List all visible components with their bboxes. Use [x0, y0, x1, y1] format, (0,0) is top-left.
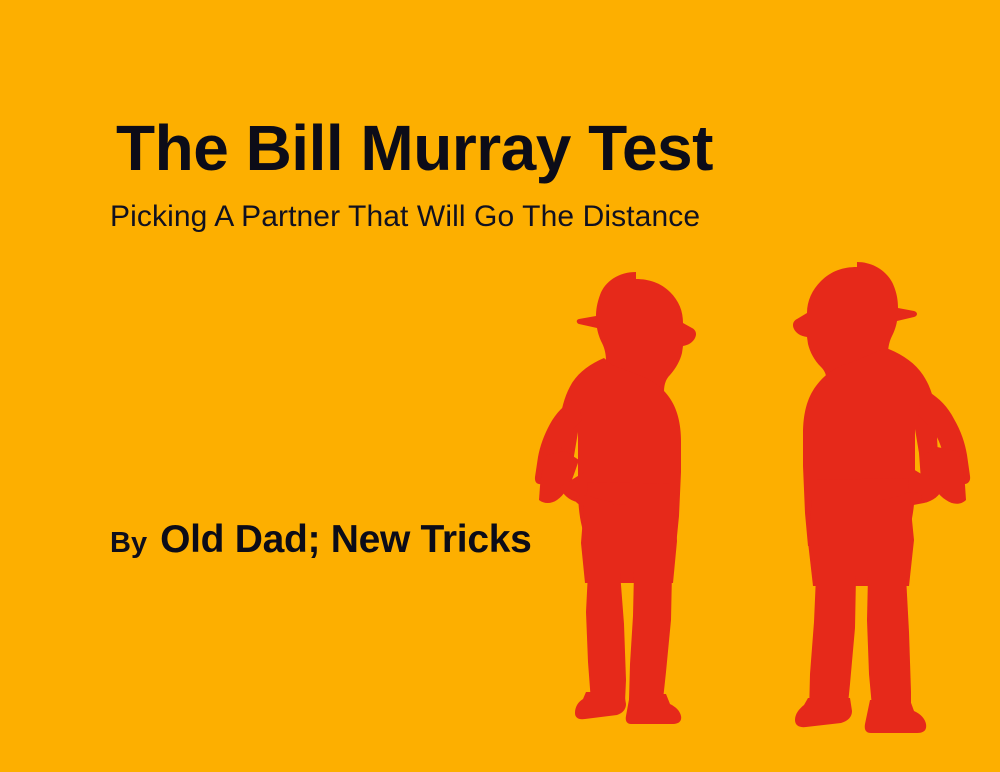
cover-subtitle: Picking A Partner That Will Go The Dista…: [110, 200, 870, 233]
cover-title: The Bill Murray Test: [116, 116, 836, 180]
book-cover: The Bill Murray Test Picking A Partner T…: [0, 0, 1000, 772]
cover-byline: By Old Dad; New Tricks: [110, 518, 532, 562]
byline-prefix: By: [110, 527, 147, 560]
byline-author-name: Old Dad; New Tricks: [160, 518, 531, 562]
